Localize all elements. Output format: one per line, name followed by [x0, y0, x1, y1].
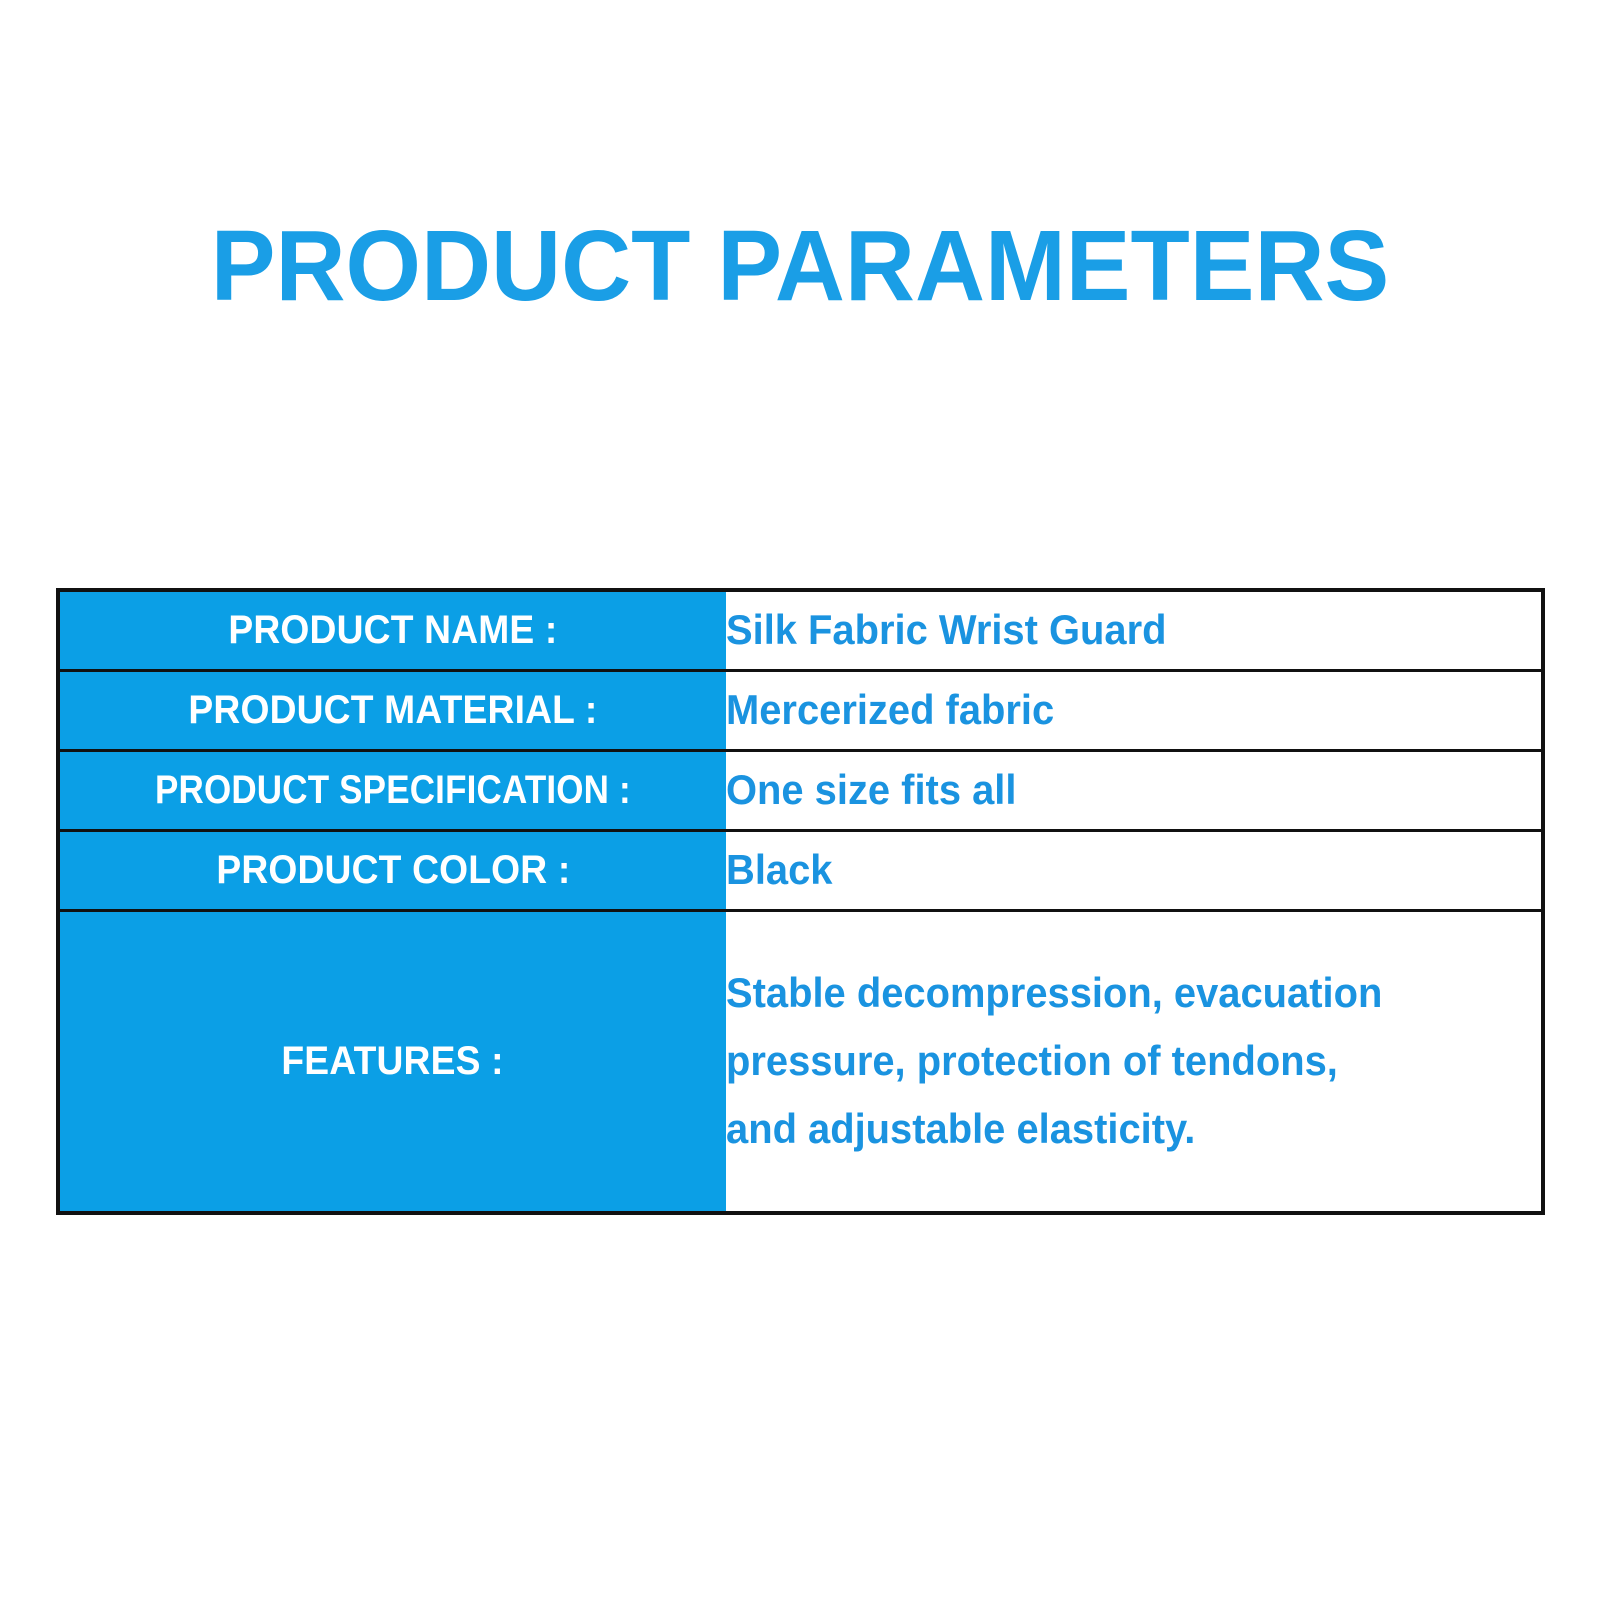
spec-label-text: PRODUCT COLOR :	[216, 848, 570, 892]
spec-value-line: pressure, protection of tendons,	[726, 1027, 1500, 1095]
spec-value-text: Silk Fabric Wrist Guard	[726, 607, 1167, 653]
spec-label-product-color: PRODUCT COLOR :	[58, 830, 726, 910]
spec-label-product-name: PRODUCT NAME :	[58, 590, 726, 670]
spec-label-features: FEATURES :	[58, 910, 726, 1213]
table-row: PRODUCT NAME : Silk Fabric Wrist Guard	[58, 590, 1543, 670]
spec-value-product-specification: One size fits all	[726, 750, 1543, 830]
spec-label-text: PRODUCT MATERIAL :	[188, 688, 597, 732]
spec-label-product-material: PRODUCT MATERIAL :	[58, 670, 726, 750]
spec-value-product-color: Black	[726, 830, 1543, 910]
table-row: PRODUCT SPECIFICATION : One size fits al…	[58, 750, 1543, 830]
spec-label-product-specification: PRODUCT SPECIFICATION :	[58, 750, 726, 830]
table-row: FEATURES : Stable decompression, evacuat…	[58, 910, 1543, 1213]
spec-label-text: FEATURES :	[282, 1039, 504, 1083]
spec-value-line: Stable decompression, evacuation	[726, 959, 1500, 1027]
table-row: PRODUCT COLOR : Black	[58, 830, 1543, 910]
table-row: PRODUCT MATERIAL : Mercerized fabric	[58, 670, 1543, 750]
page-title: PRODUCT PARAMETERS	[24, 214, 1576, 318]
product-parameters-page: PRODUCT PARAMETERS PRODUCT NAME : Silk F…	[0, 0, 1600, 1600]
spec-value-line: and adjustable elasticity.	[726, 1095, 1500, 1163]
product-parameters-table: PRODUCT NAME : Silk Fabric Wrist Guard P…	[56, 588, 1545, 1215]
spec-value-text: Black	[726, 847, 832, 893]
spec-value-text: One size fits all	[726, 767, 1016, 813]
spec-value-text: Mercerized fabric	[726, 687, 1054, 733]
spec-value-product-material: Mercerized fabric	[726, 670, 1543, 750]
spec-value-product-name: Silk Fabric Wrist Guard	[726, 590, 1543, 670]
spec-value-features: Stable decompression, evacuation pressur…	[726, 910, 1543, 1213]
spec-label-text: PRODUCT NAME :	[228, 608, 557, 652]
spec-label-text: PRODUCT SPECIFICATION :	[155, 768, 631, 812]
